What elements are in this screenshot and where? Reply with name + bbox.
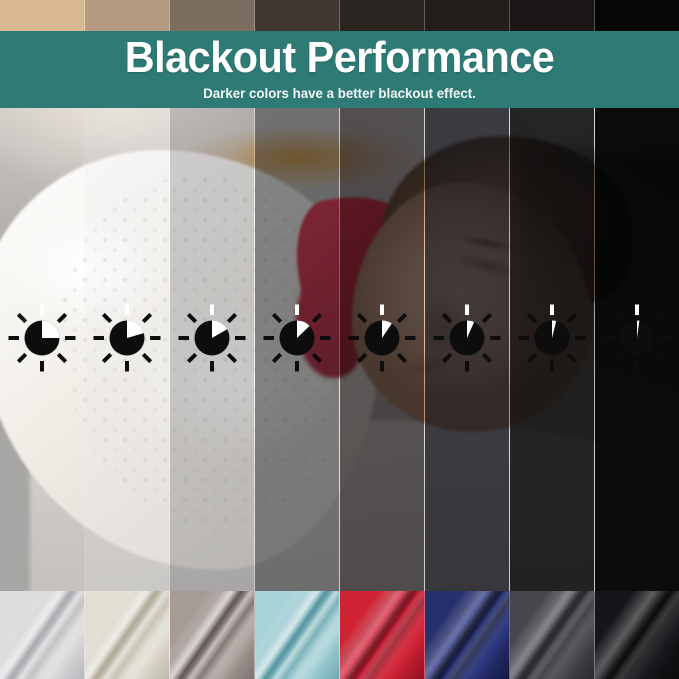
fabric-highlight [425, 591, 510, 679]
page-subtitle: Darker colors have a better blackout eff… [203, 84, 476, 102]
fabric-highlight [595, 591, 679, 679]
fabric-swatch-strip [0, 591, 679, 679]
header-banner: Blackout Performance Darker colors have … [0, 31, 679, 108]
fabric-navy[interactable] [425, 591, 510, 679]
fabric-highlight [170, 591, 255, 679]
fabric-highlight [0, 591, 85, 679]
color-chip [85, 0, 170, 31]
fabric-taupe[interactable] [170, 591, 255, 679]
color-chip [595, 0, 679, 31]
fabric-aqua[interactable] [255, 591, 340, 679]
fabric-highlight [510, 591, 595, 679]
color-chip [255, 0, 340, 31]
color-chip [425, 0, 510, 31]
top-color-strip [0, 0, 679, 31]
fabric-ivory[interactable] [85, 591, 170, 679]
fabric-highlight [255, 591, 340, 679]
fabric-dark-gray[interactable] [510, 591, 595, 679]
color-chip [340, 0, 425, 31]
color-chip [170, 0, 255, 31]
page-title: Blackout Performance [125, 33, 555, 83]
color-chip [510, 0, 595, 31]
fabric-highlight [85, 591, 170, 679]
fabric-red[interactable] [340, 591, 425, 679]
fabric-black[interactable] [595, 591, 679, 679]
fabric-white[interactable] [0, 591, 85, 679]
color-chip [0, 0, 85, 31]
blackout-performance-infographic: Blackout Performance Darker colors have … [0, 0, 679, 679]
fabric-highlight [340, 591, 425, 679]
